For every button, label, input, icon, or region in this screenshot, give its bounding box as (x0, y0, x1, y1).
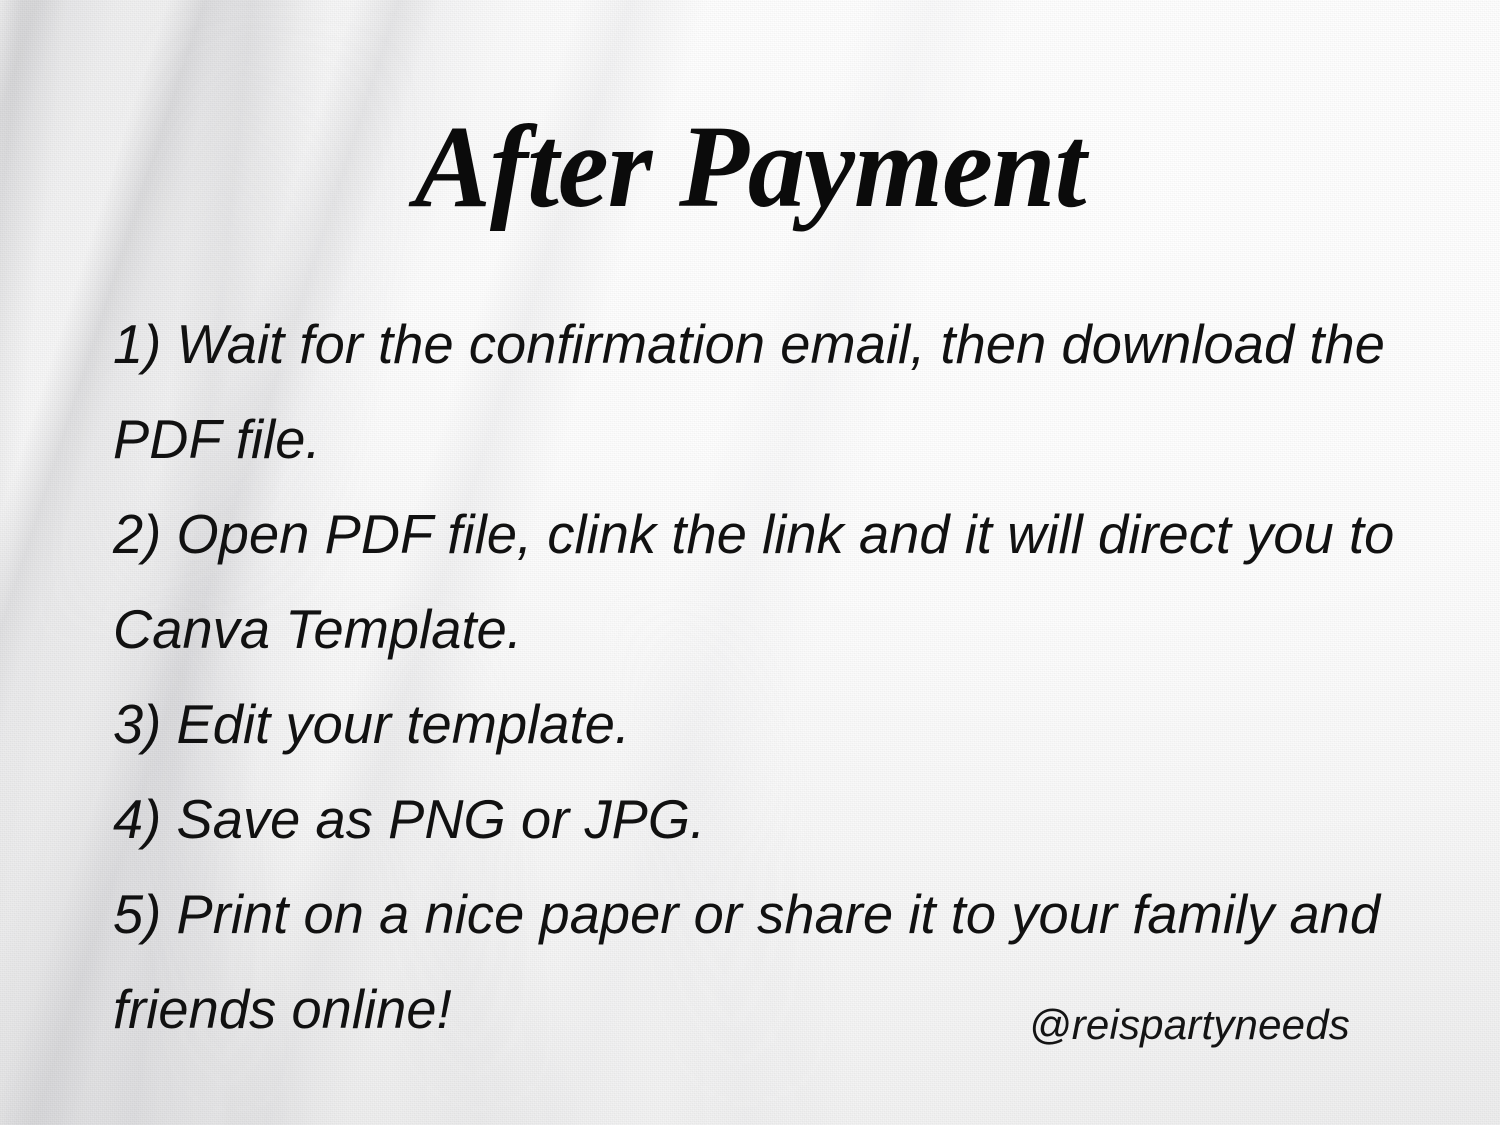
instruction-line: 2) Open PDF file, clink the link and it … (113, 487, 1423, 582)
page-title: After Payment (23, 108, 1478, 226)
instruction-line: 1) Wait for the confirmation email, then… (113, 297, 1423, 392)
slide-canvas: After Payment 1) Wait for the confirmati… (0, 0, 1500, 1125)
watermark-handle: @reispartyneeds (1029, 1004, 1350, 1046)
instruction-list: 1) Wait for the confirmation email, then… (113, 297, 1443, 1057)
instruction-line: PDF file. (113, 392, 1423, 487)
slide-content: After Payment 1) Wait for the confirmati… (0, 0, 1500, 1125)
instruction-line: Canva Template. (113, 582, 1423, 677)
instruction-line: 4) Save as PNG or JPG. (113, 772, 1423, 867)
instruction-line: 3) Edit your template. (113, 677, 1423, 772)
instruction-line: 5) Print on a nice paper or share it to … (113, 867, 1423, 962)
